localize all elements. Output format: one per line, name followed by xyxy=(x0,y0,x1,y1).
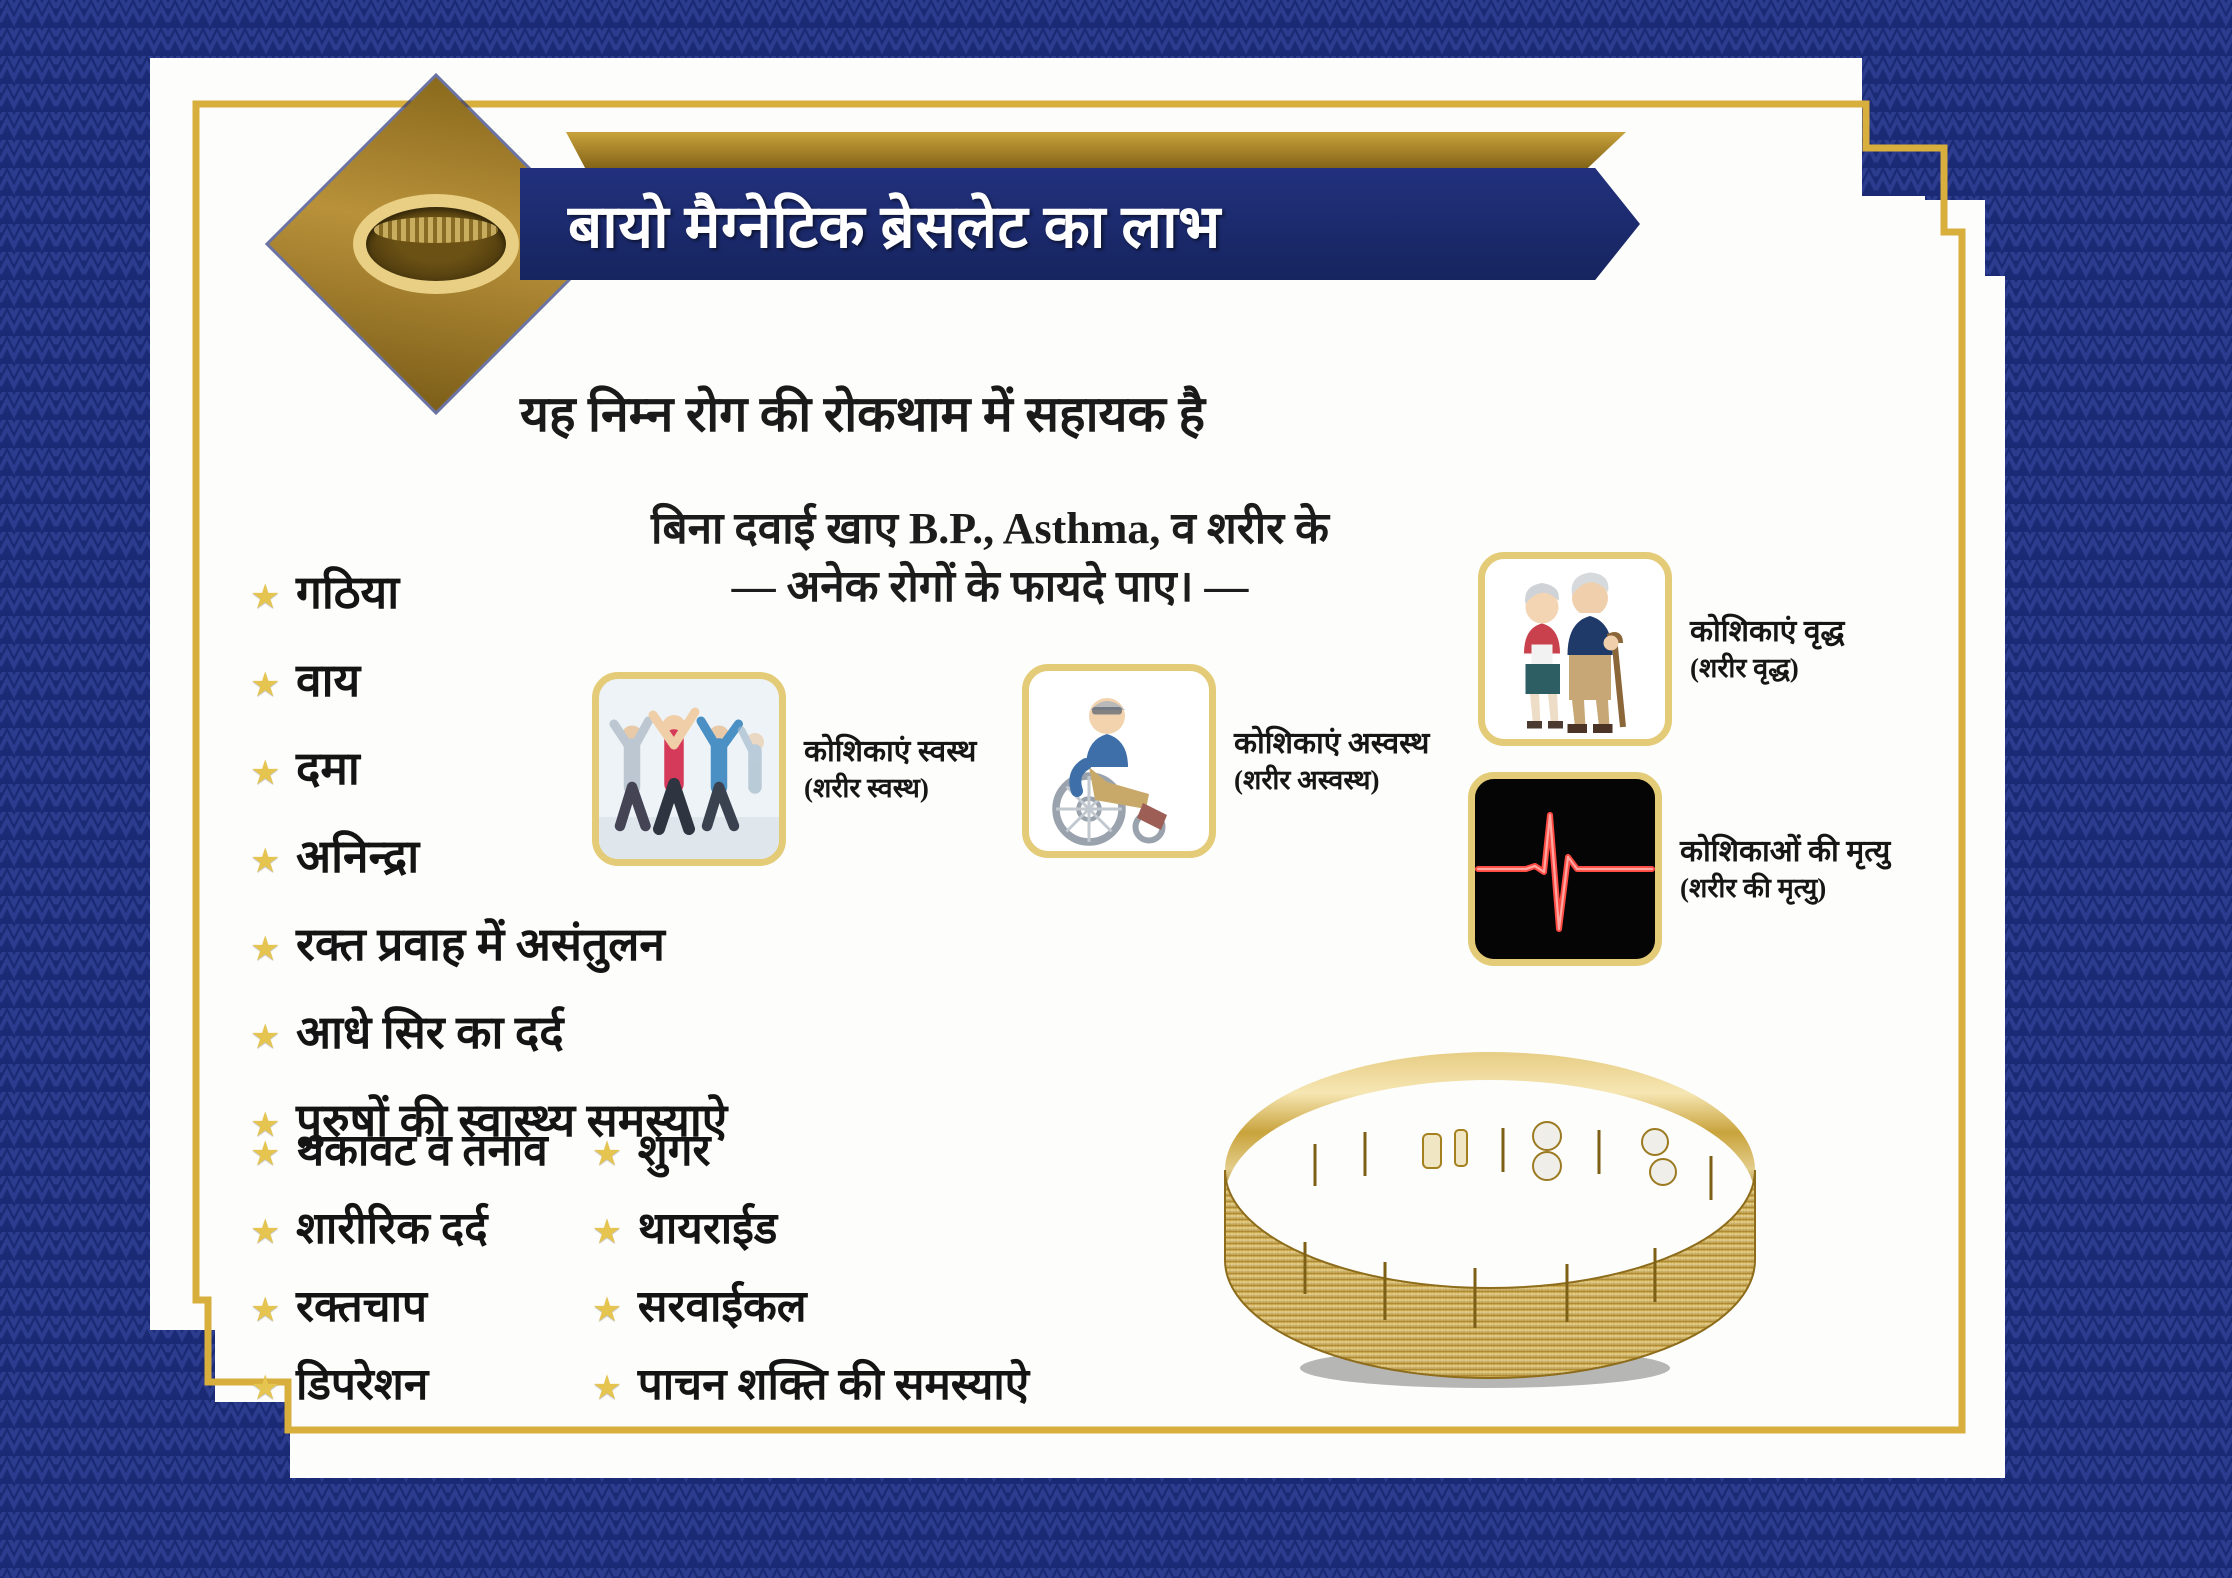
star-icon: ★ xyxy=(250,580,296,614)
star-icon: ★ xyxy=(250,1293,296,1327)
benefits-list: ★ गठिया ★ वाय ★ दमा ★ अनिन्द्रा ★ रक्त प… xyxy=(250,560,870,1176)
list-item: ★ पाचन शक्ति की समस्याऐ xyxy=(592,1352,1029,1412)
list-item-label: रक्त प्रवाह में असंतुलन xyxy=(296,912,665,974)
list-item-label: पाचन शक्ति की समस्याऐ xyxy=(638,1352,1029,1412)
card-caption: कोशिकाएं स्वस्थ (शरीर स्वस्थ) xyxy=(804,732,976,806)
card-caption-sub: (शरीर स्वस्थ) xyxy=(804,771,976,806)
list-item-label: दमा xyxy=(296,736,360,798)
card-caption-sub: (शरीर वृद्ध) xyxy=(1690,651,1845,686)
star-icon: ★ xyxy=(592,1293,638,1327)
benefits-column-left: ★ थकावट व तनाव ★ शारीरिक दर्द ★ रक्तचाप … xyxy=(250,1118,548,1430)
page-subtitle: यह निम्न रोग की रोकथाम में सहायक है xyxy=(520,378,1205,446)
list-item-label: गठिया xyxy=(296,560,399,622)
star-icon: ★ xyxy=(250,1215,296,1249)
star-icon: ★ xyxy=(592,1137,638,1171)
card-caption: कोशिकाएं अस्वस्थ (शरीर अस्वस्थ) xyxy=(1234,724,1429,798)
card-caption-main: कोशिकाएं वृद्ध xyxy=(1690,615,1845,648)
cell-state-card-aged: कोशिकाएं वृद्ध (शरीर वृद्ध) xyxy=(1478,552,1845,746)
list-item: ★ गठिया xyxy=(250,560,870,622)
gold-magnetic-bracelet-icon xyxy=(1155,1010,1815,1410)
list-item: ★ डिपरेशन xyxy=(250,1352,548,1412)
list-item-label: सरवाईकल xyxy=(638,1274,807,1334)
tagline-line-1: बिना दवाई खाए B.P., Asthma, व शरीर के xyxy=(651,504,1329,553)
list-item: ★ शुगर xyxy=(592,1118,1029,1178)
wheelchair-person-icon xyxy=(1022,664,1216,858)
banner-gold-strip xyxy=(566,132,1626,172)
star-icon: ★ xyxy=(250,756,296,790)
title-banner: बायो मैग्नेटिक ब्रेसलेट का लाभ xyxy=(520,168,1640,280)
list-item: ★ रक्त प्रवाह में असंतुलन xyxy=(250,912,870,974)
list-item-label: शारीरिक दर्द xyxy=(296,1196,488,1256)
card-caption-main: कोशिकाएं अस्वस्थ xyxy=(1234,727,1429,760)
ecg-heartbeat-icon xyxy=(1468,772,1662,966)
cell-state-card-unhealthy: कोशिकाएं अस्वस्थ (शरीर अस्वस्थ) xyxy=(1022,664,1429,858)
star-icon: ★ xyxy=(250,844,296,878)
list-item: ★ रक्तचाप xyxy=(250,1274,548,1334)
banner-navy-ribbon: बायो मैग्नेटिक ब्रेसलेट का लाभ xyxy=(520,168,1640,280)
list-item-label: अनिन्द्रा xyxy=(296,824,419,886)
list-item-label: रक्तचाप xyxy=(296,1274,427,1334)
card-caption: कोशिकाएं वृद्ध (शरीर वृद्ध) xyxy=(1690,612,1845,686)
card-caption-sub: (शरीर अस्वस्थ) xyxy=(1234,763,1429,798)
star-icon: ★ xyxy=(250,1371,296,1405)
list-item: ★ शारीरिक दर्द xyxy=(250,1196,548,1256)
star-icon: ★ xyxy=(592,1371,638,1405)
list-item-label: डिपरेशन xyxy=(296,1352,428,1412)
list-item-label: शुगर xyxy=(638,1118,711,1178)
list-item-label: आधे सिर का दर्द xyxy=(296,1000,564,1062)
bracelet-ring-icon xyxy=(318,126,554,362)
list-item: ★ आधे सिर का दर्द xyxy=(250,1000,870,1062)
star-icon: ★ xyxy=(250,1020,296,1054)
poster: बायो मैग्नेटिक ब्रेसलेट का लाभ यह निम्न … xyxy=(0,0,2232,1578)
elderly-couple-icon xyxy=(1478,552,1672,746)
list-item: ★ सरवाईकल xyxy=(592,1274,1029,1334)
benefits-column-right: ★ शुगर ★ थायराईड ★ सरवाईकल ★ पाचन शक्ति … xyxy=(592,1118,1029,1430)
page-title: बायो मैग्नेटिक ब्रेसलेट का लाभ xyxy=(520,183,1221,265)
star-icon: ★ xyxy=(592,1215,638,1249)
card-caption-main: कोशिकाएं स्वस्थ xyxy=(804,735,976,768)
star-icon: ★ xyxy=(250,668,296,702)
cell-state-card-death: कोशिकाओं की मृत्यु (शरीर की मृत्यु) xyxy=(1468,772,1890,966)
list-item-label: थायराईड xyxy=(638,1196,778,1256)
cell-state-card-healthy: कोशिकाएं स्वस्थ (शरीर स्वस्थ) xyxy=(592,672,976,866)
star-icon: ★ xyxy=(250,932,296,966)
card-caption: कोशिकाओं की मृत्यु (शरीर की मृत्यु) xyxy=(1680,832,1890,906)
list-item-label: थकावट व तनाव xyxy=(296,1118,548,1178)
people-exercising-icon xyxy=(592,672,786,866)
card-caption-sub: (शरीर की मृत्यु) xyxy=(1680,871,1890,906)
list-item-label: वाय xyxy=(296,648,360,710)
benefits-two-column: ★ थकावट व तनाव ★ शारीरिक दर्द ★ रक्तचाप … xyxy=(250,1118,1029,1430)
card-caption-main: कोशिकाओं की मृत्यु xyxy=(1680,835,1890,868)
list-item: ★ थायराईड xyxy=(592,1196,1029,1256)
star-icon: ★ xyxy=(250,1137,296,1171)
list-item: ★ थकावट व तनाव xyxy=(250,1118,548,1178)
